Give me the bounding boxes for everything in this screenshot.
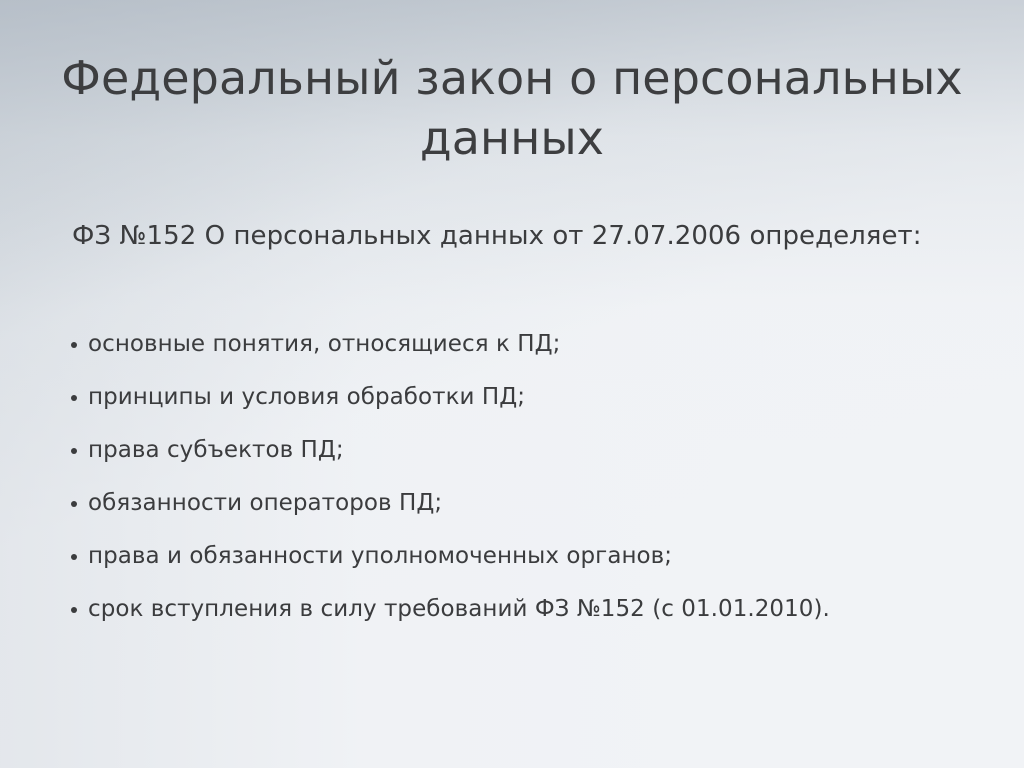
slide-title: Федеральный закон о персональных данных [40,48,984,168]
bullet-list-item-label: права и обязанности уполномоченных орган… [88,537,672,575]
bullet-list-item: основные понятия, относящиеся к ПД; [70,325,970,378]
bullet-dot-icon [71,395,77,401]
bullet-dot-icon [71,501,77,507]
bullet-dot-icon [71,448,77,454]
bullet-dot-icon [71,554,77,560]
presentation-slide: Федеральный закон о персональных данных … [0,0,1024,768]
slide-subtitle: ФЗ №152 О персональных данных от 27.07.2… [72,219,922,253]
bullet-list-item-label: принципы и условия обработки ПД; [88,378,525,416]
slide-title-line-1: Федеральный закон о персональных [40,48,984,108]
bullet-list-item: обязанности операторов ПД; [70,484,970,537]
bullet-list-item: срок вступления в силу требований ФЗ №15… [70,590,970,643]
bullet-list-item-label: срок вступления в силу требований ФЗ №15… [88,590,830,628]
bullet-list-item: права субъектов ПД; [70,431,970,484]
slide-title-line-2: данных [40,108,984,168]
bullet-list-item-label: обязанности операторов ПД; [88,484,442,522]
bullet-list-item: права и обязанности уполномоченных орган… [70,537,970,590]
bullet-list-item-label: права субъектов ПД; [88,431,344,469]
bullet-dot-icon [71,607,77,613]
bullet-list-item: принципы и условия обработки ПД; [70,378,970,431]
bullet-list-item-label: основные понятия, относящиеся к ПД; [88,325,560,363]
bullet-list: основные понятия, относящиеся к ПД; прин… [70,325,970,643]
bullet-dot-icon [71,342,77,348]
